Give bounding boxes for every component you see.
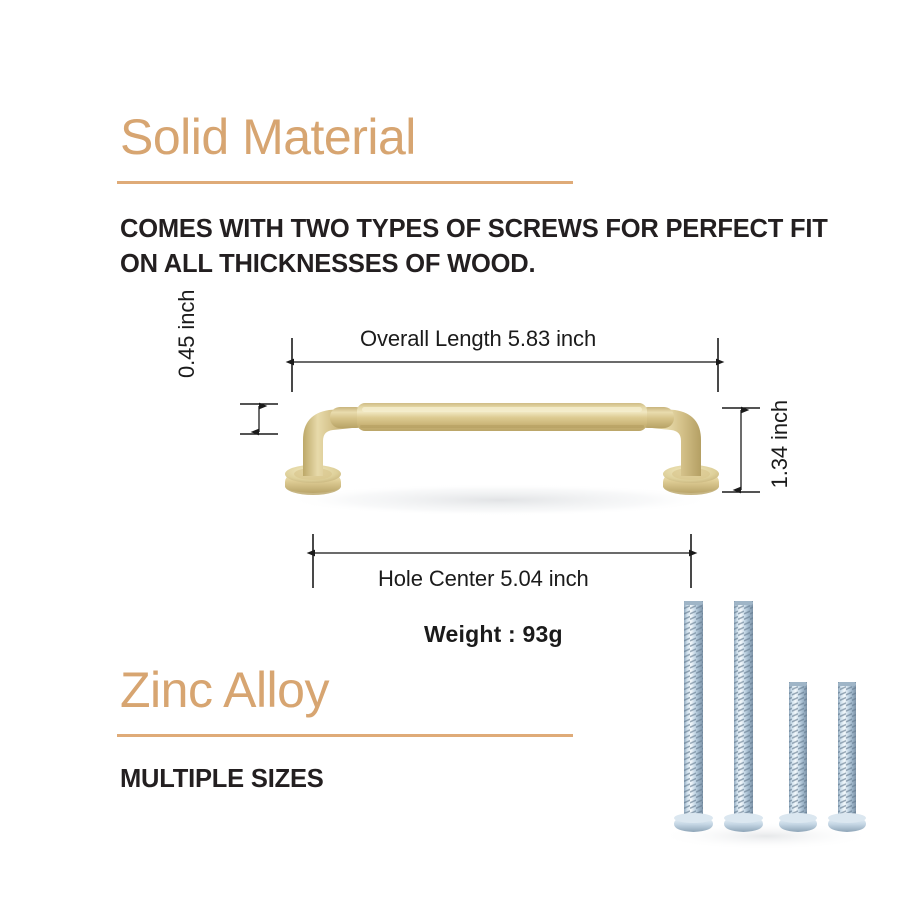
dimension-label-overall-length: Overall Length 5.83 inch [360,326,596,352]
screw-long-1 [674,601,713,832]
dimension-projection [722,408,760,492]
included-screws-image [648,588,878,858]
infographic-page: Solid Material COMES WITH TWO TYPES OF S… [0,0,924,924]
dimension-label-hole-center: Hole Center 5.04 inch [378,566,589,592]
section-divider-bottom [117,734,573,737]
screw-short-1 [779,682,817,832]
section-heading-zinc-alloy: Zinc Alloy [120,665,329,715]
weight-label: Weight : 93g [424,621,563,648]
handle-barrel-lowlight [360,425,644,428]
dimension-label-projection: 1.34 inch [767,400,793,488]
section-body-zinc-alloy: MULTIPLE SIZES [120,762,620,797]
handle-drop-shadow [285,484,715,516]
dimension-label-bar-thickness: 0.45 inch [174,290,200,378]
handle-barrel-highlight [362,407,642,412]
screw-short-2 [828,682,866,832]
screw-long-2 [724,601,763,832]
dimension-bar-thickness [240,404,278,434]
